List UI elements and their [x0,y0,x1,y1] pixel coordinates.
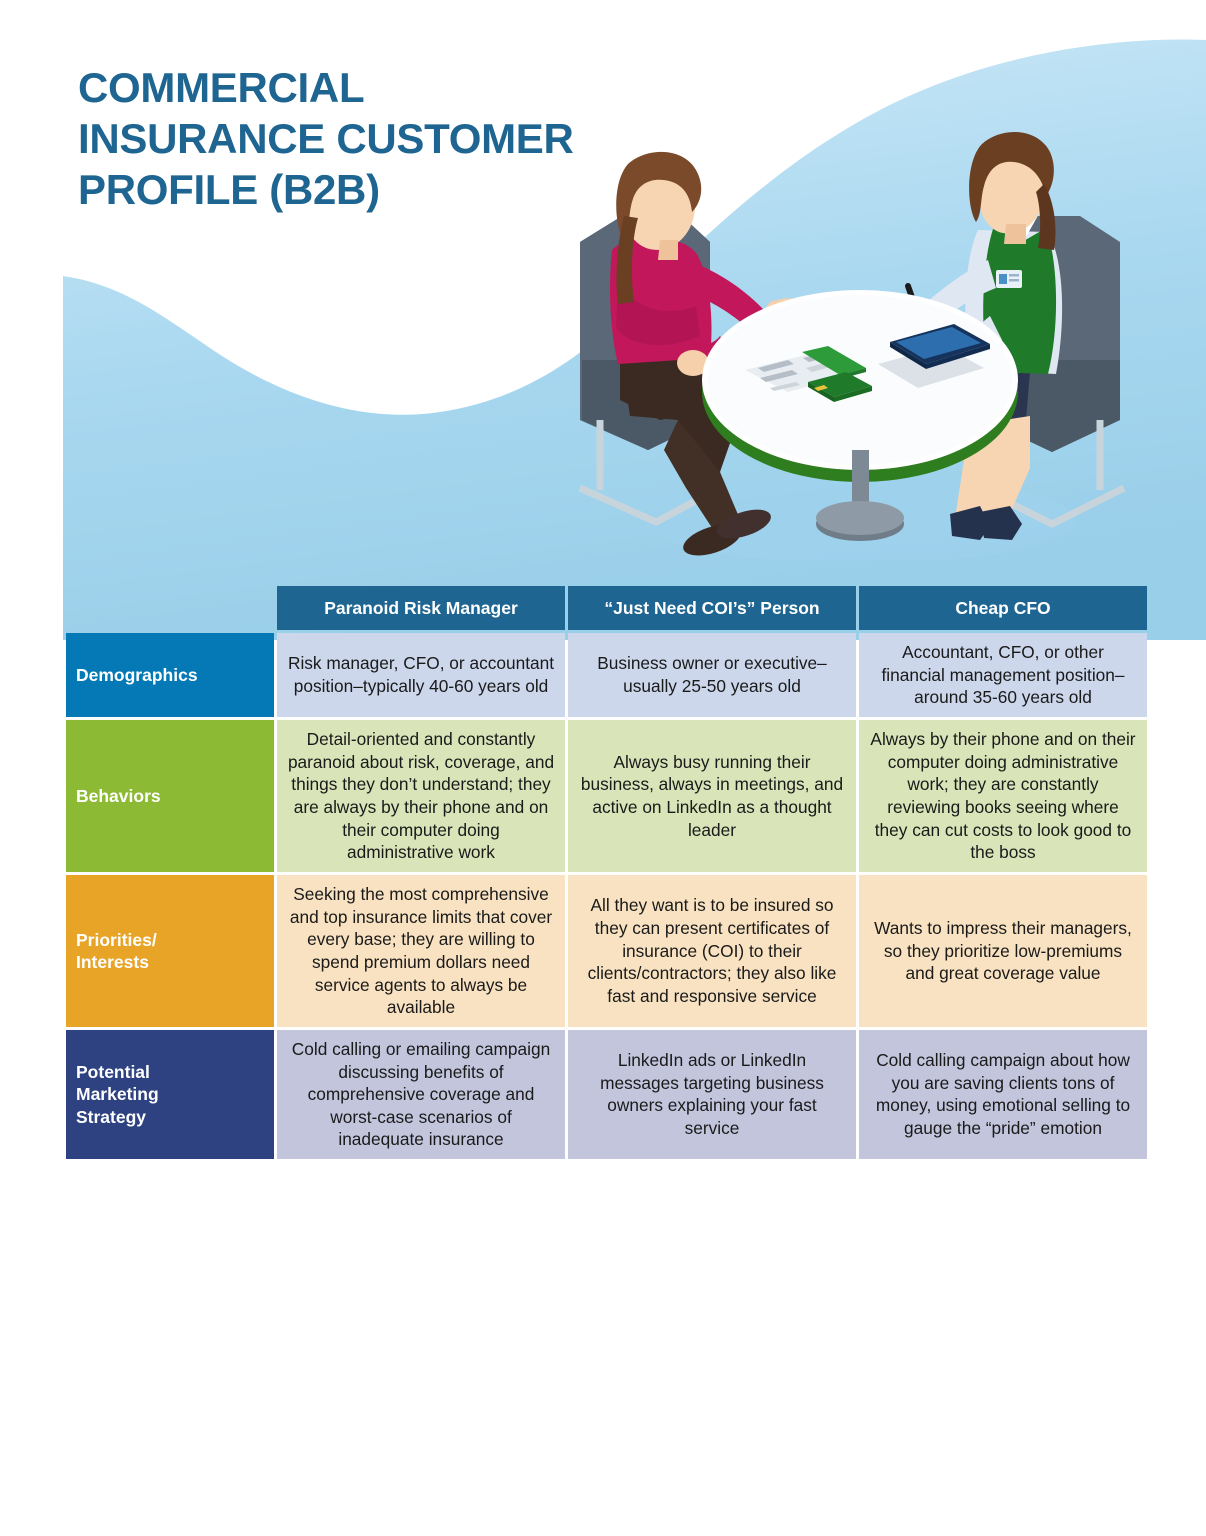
title-line-2: INSURANCE CUSTOMER [78,113,678,164]
row-label-priorities-interests: Priorities/ Interests [66,875,274,1027]
cell-behaviors-paranoid-risk-manager: Detail-oriented and constantly paranoid … [277,720,565,872]
table-header-row: Paranoid Risk Manager “Just Need COI’s” … [66,586,1147,630]
title-line-3: PROFILE (B2B) [78,164,678,215]
row-label-priorities-line-2: Interests [76,952,149,972]
cell-priorities-just-need-cois-person: All they want is to be insured so they c… [568,875,856,1027]
cell-demographics-cheap-cfo: Accountant, CFO, or other financial mana… [859,633,1147,717]
row-label-behaviors: Behaviors [66,720,274,872]
customer-profile-table: Paranoid Risk Manager “Just Need COI’s” … [63,583,1150,1162]
title-line-1: COMMERCIAL [78,62,678,113]
row-label-potential-marketing-strategy: Potential Marketing Strategy [66,1030,274,1159]
row-label-demographics: Demographics [66,633,274,717]
table-row-potential-marketing-strategy: Potential Marketing Strategy Cold callin… [66,1030,1147,1159]
table-row-behaviors: Behaviors Detail-oriented and constantly… [66,720,1147,872]
row-label-strategy-line-1: Potential [76,1062,150,1082]
row-label-strategy-line-3: Strategy [76,1107,146,1127]
table-row-priorities-interests: Priorities/ Interests Seeking the most c… [66,875,1147,1027]
cell-behaviors-cheap-cfo: Always by their phone and on their compu… [859,720,1147,872]
column-header-paranoid-risk-manager: Paranoid Risk Manager [277,586,565,630]
column-header-just-need-cois-person: “Just Need COI’s” Person [568,586,856,630]
cell-strategy-paranoid-risk-manager: Cold calling or emailing campaign discus… [277,1030,565,1159]
row-label-priorities-line-1: Priorities/ [76,930,157,950]
row-label-strategy-line-2: Marketing [76,1084,159,1104]
cell-strategy-cheap-cfo: Cold calling campaign about how you are … [859,1030,1147,1159]
header-blank-cell [66,586,274,630]
page-title: COMMERCIAL INSURANCE CUSTOMER PROFILE (B… [78,62,678,216]
cell-strategy-just-need-cois-person: LinkedIn ads or LinkedIn messages target… [568,1030,856,1159]
table-row-demographics: Demographics Risk manager, CFO, or accou… [66,633,1147,717]
cell-priorities-paranoid-risk-manager: Seeking the most comprehensive and top i… [277,875,565,1027]
infographic-page: COMMERCIAL INSURANCE CUSTOMER PROFILE (B… [0,0,1206,1536]
cell-behaviors-just-need-cois-person: Always busy running their business, alwa… [568,720,856,872]
column-header-cheap-cfo: Cheap CFO [859,586,1147,630]
cell-demographics-just-need-cois-person: Business owner or executive–usually 25-5… [568,633,856,717]
cell-demographics-paranoid-risk-manager: Risk manager, CFO, or accountant positio… [277,633,565,717]
cell-priorities-cheap-cfo: Wants to impress their managers, so they… [859,875,1147,1027]
